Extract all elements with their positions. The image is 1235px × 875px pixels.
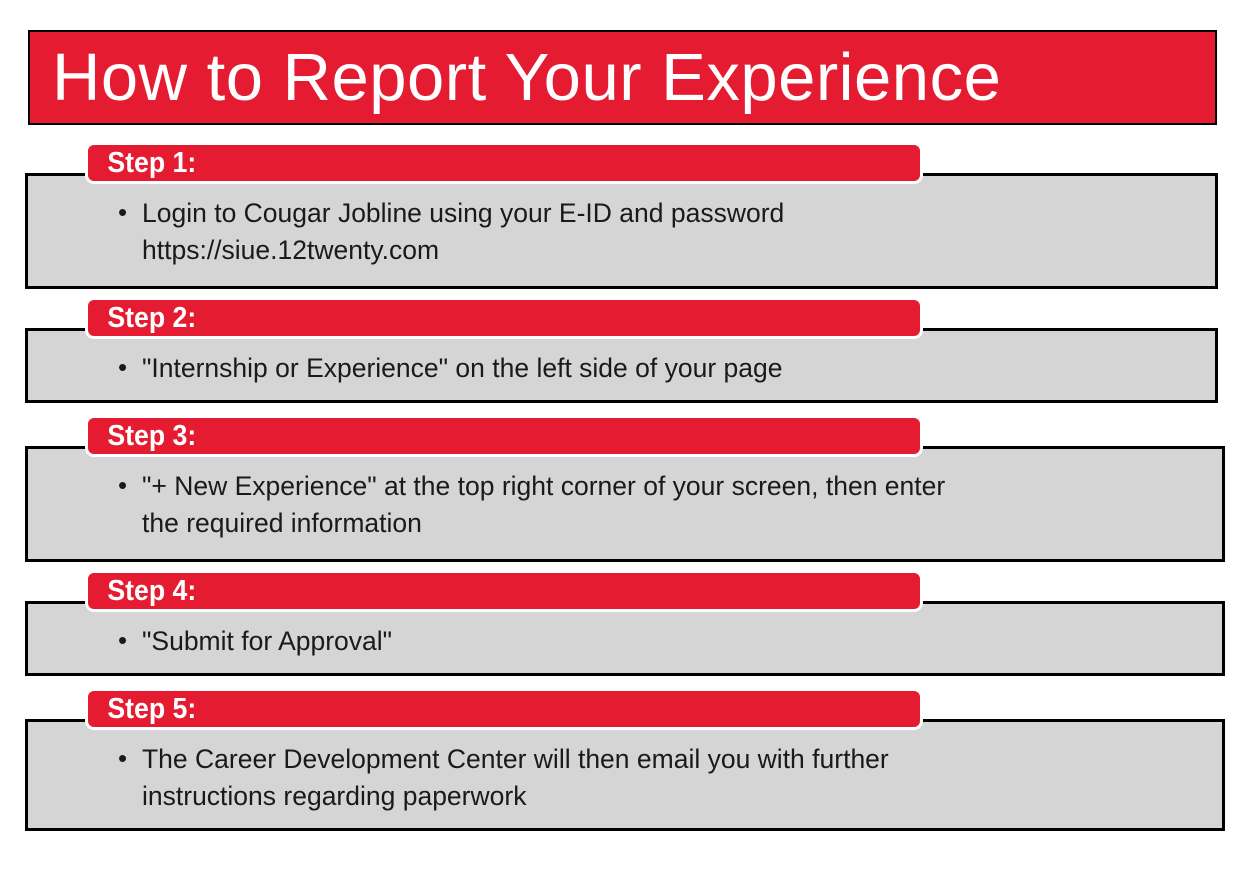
- bullet-icon: •: [118, 350, 142, 386]
- step-5-header: Step 5:: [85, 688, 923, 730]
- step-4-bullet-row: • "Submit for Approval": [118, 623, 1178, 660]
- step-1-label: Step 1:: [88, 149, 196, 178]
- step-5-label: Step 5:: [88, 695, 196, 724]
- step-4-label: Step 4:: [88, 577, 196, 606]
- bullet-icon: •: [118, 623, 142, 659]
- bullet-icon: •: [118, 468, 142, 504]
- step-3-label: Step 3:: [88, 422, 196, 451]
- step-5-content: • The Career Development Center will the…: [118, 741, 1178, 814]
- page-title: How to Report Your Experience: [30, 44, 1001, 111]
- step-1-bullet-row: • Login to Cougar Jobline using your E-I…: [118, 195, 1178, 268]
- step-4-content: • "Submit for Approval": [118, 623, 1178, 660]
- step-2-content: • "Internship or Experience" on the left…: [118, 350, 1178, 387]
- step-2-bullet-row: • "Internship or Experience" on the left…: [118, 350, 1178, 387]
- bullet-icon: •: [118, 195, 142, 231]
- step-4-text: "Submit for Approval": [142, 623, 1178, 660]
- step-3-text: "+ New Experience" at the top right corn…: [142, 468, 1198, 541]
- step-3-header: Step 3:: [85, 415, 923, 457]
- step-1-header: Step 1:: [85, 142, 923, 184]
- step-2-label: Step 2:: [88, 304, 196, 333]
- step-4-header: Step 4:: [85, 570, 923, 612]
- bullet-icon: •: [118, 741, 142, 777]
- step-2-text: "Internship or Experience" on the left s…: [142, 350, 1178, 387]
- step-1-text: Login to Cougar Jobline using your E-ID …: [142, 195, 1178, 268]
- step-5-bullet-row: • The Career Development Center will the…: [118, 741, 1178, 814]
- step-1-content: • Login to Cougar Jobline using your E-I…: [118, 195, 1178, 268]
- step-2-header: Step 2:: [85, 297, 923, 339]
- page-title-banner: How to Report Your Experience: [28, 30, 1217, 125]
- step-5-text: The Career Development Center will then …: [142, 741, 1178, 814]
- step-3-content: • "+ New Experience" at the top right co…: [118, 468, 1198, 541]
- step-3-bullet-row: • "+ New Experience" at the top right co…: [118, 468, 1198, 541]
